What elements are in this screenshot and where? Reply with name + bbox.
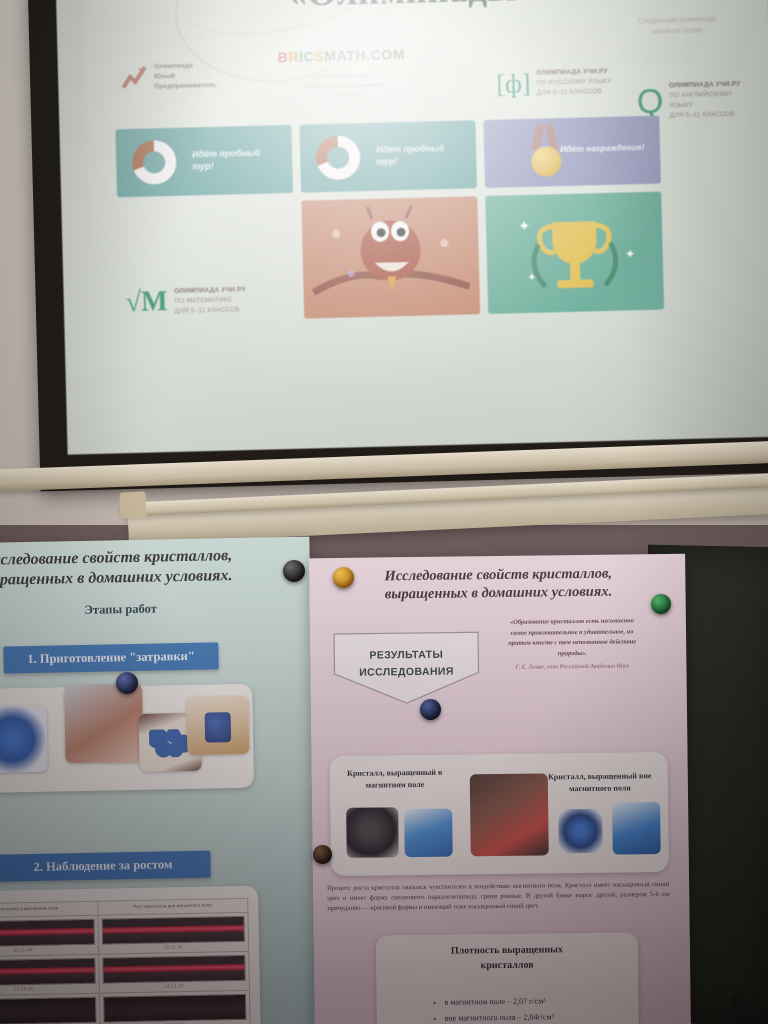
growth-observation-table: Рост кристалла в магнитном поле Рост кри…	[0, 898, 251, 1024]
poster-left-title: Исследование свойств кристаллов, выращен…	[0, 545, 272, 591]
tile-trial-1-label: Идёт пробный тур!	[192, 147, 279, 173]
density-list: в магнитном поле – 2,07 г/см³ вне магнит…	[404, 992, 670, 1024]
table-row: 22.11.18 22.11.18	[0, 913, 248, 958]
faint-note-right-text: Следующая олимпиада начнётся позже	[638, 16, 715, 36]
crystal-photo-blue-1	[404, 809, 453, 858]
tile-trial-2-label: Идёт пробный тур!	[376, 143, 463, 169]
label-crystal-in-field: Кристалл, выращенный в магнитном поле	[342, 767, 448, 792]
results-arrow: РЕЗУЛЬТАТЫ ИССЛЕДОВАНИЯ	[330, 628, 483, 708]
poster-left-title-line-2: выращенных в домашних условиях.	[0, 565, 272, 591]
crystal-photo-blue-2	[558, 809, 603, 854]
projection-screen-surface: «Олимпиады» Олимпиада Юный Предпринимате…	[56, 0, 768, 455]
magnet-orange[interactable]	[333, 567, 354, 588]
results-paragraph: Процесс роста кристалла оказался чувстви…	[327, 880, 669, 915]
brics-sub-3: 1 – 11 классов	[302, 91, 382, 103]
growth-date: 12.12.18	[0, 985, 95, 993]
table-cell-right: 22.11.18	[98, 913, 248, 954]
growth-arrow-icon	[122, 65, 149, 92]
crystal-photo-blue-3	[612, 802, 661, 855]
poster-right-title: Исследование свойств кристаллов, выращен…	[333, 564, 663, 604]
epigraph-quote-text: «Образование кристаллов есть несомненно …	[508, 617, 636, 657]
growth-photo	[103, 994, 247, 1023]
crystal-photo-dark	[346, 807, 399, 858]
crystal-comparison-card: Кристалл, выращенный в магнитном поле Кр…	[330, 752, 669, 876]
dinosaur-icon	[301, 196, 480, 318]
tile-marathon-results[interactable]: Результаты марафонов	[301, 196, 480, 318]
poster-left-subtitle: Этапы работ	[0, 599, 291, 621]
tiles-row-2: √M ОЛИМПИАДА УЧИ.РУ ПО МАТЕМАТИКЕ ДЛЯ 5–…	[117, 190, 720, 323]
logo-russian-text: ОЛИМПИАДА УЧИ.РУ ПО РУССКОМУ ЯЗЫКУ ДЛЯ 5…	[536, 67, 612, 99]
rail-end-cap	[119, 491, 146, 518]
growth-date: 22.11.18	[0, 946, 95, 954]
table-cell-right: 28.12.18	[99, 991, 249, 1024]
en-line-2: ПО АНГЛИЙСКОМУ ЯЗЫКУ	[669, 90, 743, 112]
stage-2-photo-card: Рост кристалла в магнитном поле Рост кри…	[0, 886, 261, 1024]
tile-awards-label: Идёт награждение!	[560, 142, 646, 155]
faint-note-right: Следующая олимпиада начнётся позже	[617, 14, 738, 39]
slide-logo-row: Олимпиада Юный Предприниматель BRICSMATH…	[122, 43, 743, 121]
tile-awarding[interactable]: Идёт награждение!	[483, 116, 661, 188]
medal-icon	[527, 124, 562, 181]
growth-photo	[0, 958, 95, 987]
math-line-3: ДЛЯ 5–11 КЛАССОВ	[175, 305, 247, 317]
phi-bracket-icon: [ф]	[496, 71, 531, 98]
density-title-line-2: кристаллов	[376, 957, 638, 975]
epigraph-quote: «Образование кристаллов есть несомненно …	[506, 616, 639, 674]
poster-right-title-line-2: выращенных в домашних условиях.	[333, 582, 663, 604]
logo-russian-olympiad: [ф] ОЛИМПИАДА УЧИ.РУ ПО РУССКОМУ ЯЗЫКУ Д…	[496, 67, 612, 100]
results-arrow-line-2: ИССЛЕДОВАНИЯ	[330, 663, 482, 682]
tiles-row-1: Идёт пробный тур! Идёт пробный тур! Идёт…	[115, 114, 717, 197]
growth-photo	[102, 955, 246, 984]
stage-1-heading: 1. Приготовление "затравки"	[3, 642, 218, 673]
table-cell-left: 22.11.18	[0, 916, 99, 957]
results-arrow-text: РЕЗУЛЬТАТЫ ИССЛЕДОВАНИЯ	[330, 646, 482, 681]
projected-slide: «Олимпиады» Олимпиада Юный Предпринимате…	[56, 0, 768, 455]
trophy-icon: ✦ ✦ ✦	[485, 192, 664, 314]
math-logo-text: ОЛИМПИАДА УЧИ.РУ ПО МАТЕМАТИКЕ ДЛЯ 5–11 …	[174, 285, 246, 317]
logo-line-3: Предприниматель	[154, 81, 217, 93]
sqrt-m-icon: √M	[125, 286, 168, 319]
pie-chart-icon	[316, 135, 361, 180]
growth-photo	[0, 997, 96, 1024]
svg-text:✦: ✦	[625, 246, 636, 261]
letter-q-icon: Q	[637, 87, 664, 117]
blue-crystal-photo	[0, 706, 48, 773]
density-title: Плотность выращенных кристаллов	[376, 942, 638, 974]
bricsmath-wordmark: BRICSMATH.COM	[277, 46, 405, 65]
stage-1-photo-card	[0, 684, 254, 794]
girl-at-desk-photo	[64, 684, 143, 763]
bricsmath-subtitle: Онлайн-олимпиада по математике для учени…	[302, 72, 383, 103]
table-cell-right: 12.12.18	[99, 952, 249, 993]
magnet-blue[interactable]	[116, 672, 138, 694]
tile-trial-round-2[interactable]: Идёт пробный тур!	[299, 120, 477, 192]
magnet-black[interactable]	[283, 560, 305, 582]
pie-chart-icon	[132, 140, 177, 185]
logo-bricsmath: BRICSMATH.COM Онлайн-олимпиада по матема…	[277, 46, 406, 103]
magnet-brown[interactable]	[313, 845, 332, 864]
magnet-dark-blue[interactable]	[420, 699, 441, 720]
math-olympiad-logo: √M ОЛИМПИАДА УЧИ.РУ ПО МАТЕМАТИКЕ ДЛЯ 5–…	[125, 284, 246, 319]
projection-screen-frame: «Олимпиады» Олимпиада Юный Предпринимате…	[28, 0, 768, 491]
density-card: Плотность выращенных кристаллов в магнит…	[376, 932, 639, 1024]
table-row: 12.12.18 12.12.18	[0, 952, 249, 997]
poster-research-results[interactable]: Исследование свойств кристаллов, выращен…	[309, 554, 691, 1024]
svg-text:✦: ✦	[518, 218, 531, 235]
jar-crystal-photo	[186, 696, 249, 755]
tile-past-tasks[interactable]: ✦ ✦ ✦ Задачи прошедших олимпиад	[485, 192, 664, 314]
classroom-photo: «Олимпиады» Олимпиада Юный Предпринимате…	[0, 0, 768, 1024]
ru-line-3: ДЛЯ 5–11 КЛАССОВ	[537, 87, 612, 99]
logo-young-entrepreneur: Олимпиада Юный Предприниматель	[122, 61, 217, 94]
svg-text:✦: ✦	[527, 272, 537, 284]
magnet-green[interactable]	[651, 594, 671, 614]
density-item: вне магнитного поля – 2,04г/см³	[445, 1008, 671, 1024]
epigraph-quote-source: Г. Е. Лемке, член Российской Академии На…	[506, 663, 638, 675]
table-cell-left: 28.12.18	[0, 994, 100, 1024]
chalkboard-clip	[731, 994, 742, 1018]
stage-2-heading: 2. Наблюдение за ростом	[0, 851, 211, 882]
table-row: 28.12.18 28.12.18	[0, 991, 250, 1024]
growth-photo	[101, 916, 245, 945]
growth-photo	[0, 919, 95, 948]
boy-at-desk-photo	[470, 773, 549, 856]
tile-trial-round-1[interactable]: Идёт пробный тур!	[115, 125, 293, 197]
results-arrow-line-1: РЕЗУЛЬТАТЫ	[330, 646, 482, 665]
table-cell-left: 12.12.18	[0, 955, 99, 996]
label-crystal-out-field: Кристалл, выращенный вне магнитного поля	[544, 770, 656, 795]
tile-math-olympiad-logo[interactable]: √M ОЛИМПИАДА УЧИ.РУ ПО МАТЕМАТИКЕ ДЛЯ 5–…	[117, 201, 296, 323]
logo-young-entrepreneur-text: Олимпиада Юный Предприниматель	[154, 61, 217, 93]
slide-tiles-grid: Идёт пробный тур! Идёт пробный тур! Идёт…	[115, 114, 720, 331]
poster-stages-of-work[interactable]: Исследование свойств кристаллов, выращен…	[0, 537, 319, 1024]
